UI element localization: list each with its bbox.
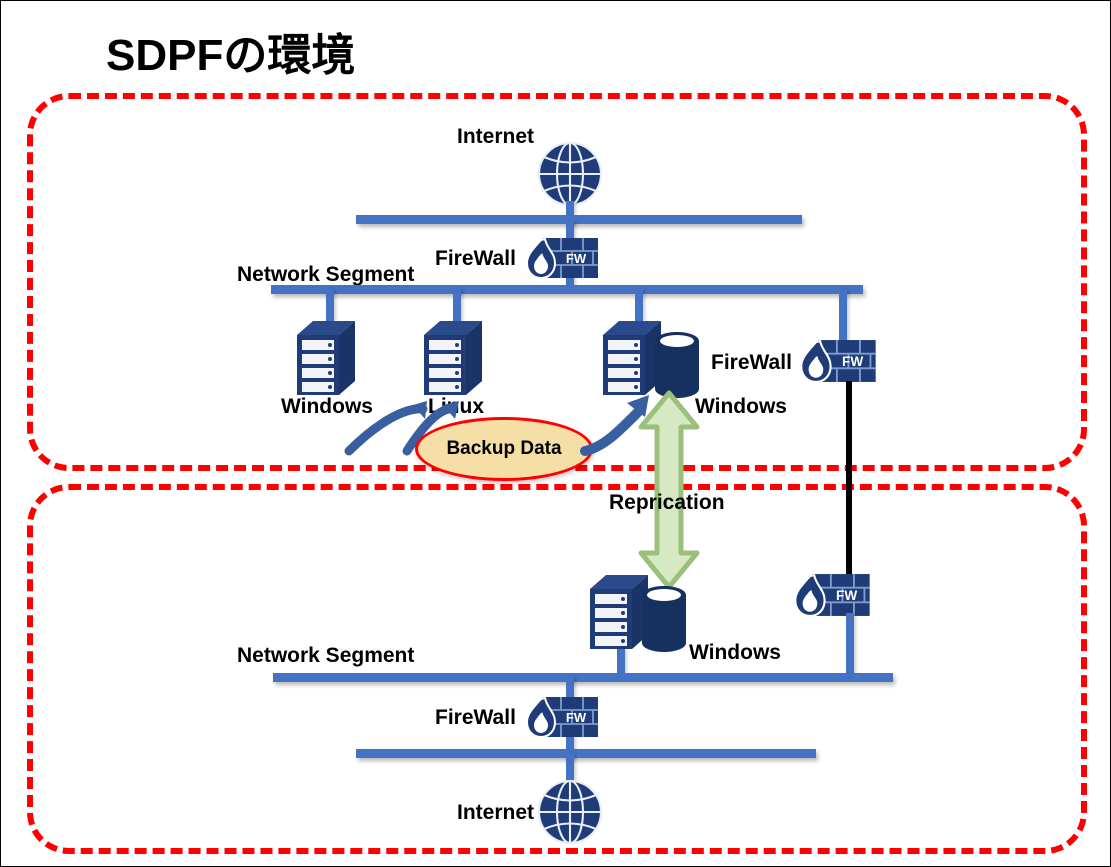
firewall-icon: FW: [795, 573, 871, 617]
server-database-icon: [586, 569, 690, 653]
svg-text:FW: FW: [836, 588, 857, 603]
top-server3-label: Windows: [695, 395, 787, 419]
double-arrow-vertical-icon: [637, 391, 701, 589]
bottom-network-segment-label: Network Segment: [237, 644, 414, 668]
firewall-icon: FW: [527, 237, 599, 279]
bottom-internet-label: Internet: [457, 801, 534, 825]
top-internet-bar: [356, 215, 802, 224]
top-network-segment-bar: [271, 285, 863, 294]
globe-icon: [537, 141, 603, 207]
bottom-firewall-label: FireWall: [435, 706, 516, 730]
vpn-tunnel-line: [846, 381, 852, 583]
top-network-segment-label: Network Segment: [237, 263, 414, 287]
bottom-globe-drop-line: [566, 753, 574, 781]
firewall-icon: FW: [801, 339, 877, 383]
bottom-server1-label: Windows: [689, 641, 781, 665]
firewall-icon: FW: [527, 696, 599, 738]
globe-icon: [537, 779, 603, 845]
bottom-network-segment-bar: [273, 673, 893, 682]
svg-text:FW: FW: [566, 251, 587, 266]
server-icon: [293, 315, 367, 399]
backup-data-label: Backup Data: [446, 438, 561, 460]
diagram-canvas: SDPFの環境 Internet FireWall: [0, 0, 1111, 867]
bottom-internet-bar: [356, 749, 816, 758]
top-side-firewall-label: FireWall: [711, 351, 792, 375]
svg-text:FW: FW: [842, 354, 863, 369]
top-firewall-label: FireWall: [435, 247, 516, 271]
backup-data-node: Backup Data: [415, 417, 593, 481]
top-internet-label: Internet: [457, 125, 534, 149]
server-icon: [420, 315, 494, 399]
page-title: SDPFの環境: [106, 19, 355, 83]
svg-text:FW: FW: [566, 710, 587, 725]
bottom-side-firewall-drop-line: [846, 613, 854, 675]
replication-label: Reprication: [609, 491, 725, 515]
top-side-firewall-drop-line: [839, 289, 847, 341]
